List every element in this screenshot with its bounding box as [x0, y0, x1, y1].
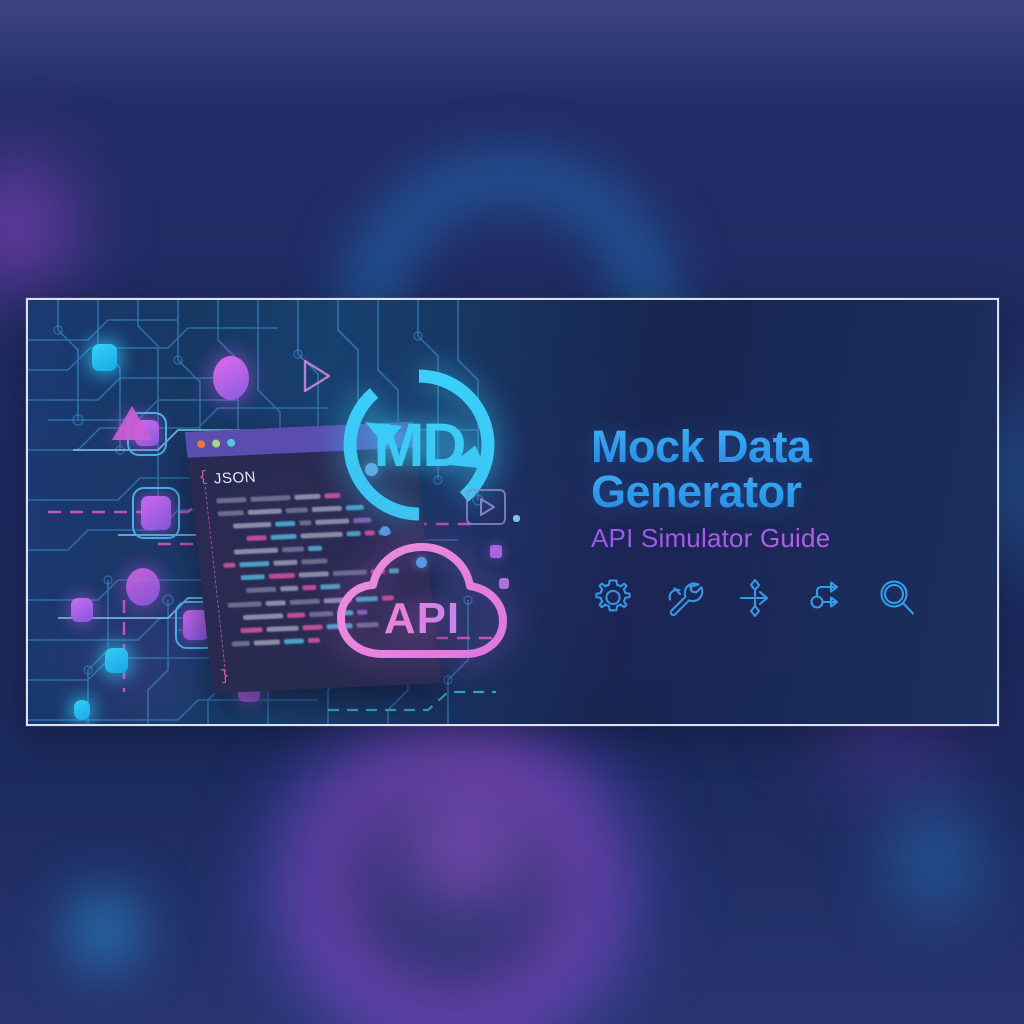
wrench-icon[interactable]	[662, 576, 706, 620]
circuit-chip-cyan-bottom	[105, 648, 128, 673]
arrow-triangle-icon	[295, 356, 337, 396]
decor-dot-blue-b	[365, 463, 378, 476]
play-badge-icon[interactable]	[464, 487, 508, 527]
page-subtitle: API Simulator Guide	[591, 523, 971, 554]
circuit-chip-cyan-corner	[74, 700, 90, 720]
decor-dot-blue-a	[416, 557, 427, 568]
banner-frame: { JSON	[26, 298, 999, 726]
gear-icon[interactable]	[591, 576, 635, 620]
close-dot[interactable]	[197, 440, 206, 448]
circuit-chip-cyan-top	[92, 344, 117, 371]
code-brace-open: {	[198, 469, 209, 486]
decor-square-violet-b	[499, 578, 509, 589]
background-glow-bottom-purple	[240, 700, 670, 1024]
poster-canvas: { JSON	[0, 0, 1024, 1024]
page-title-line-1: Mock Data	[591, 425, 971, 470]
minimize-dot[interactable]	[212, 439, 221, 447]
page-title-line-2: Generator	[591, 470, 971, 515]
code-brace-close: }	[219, 668, 230, 685]
banner-content: { JSON	[28, 300, 997, 724]
branch-node-icon[interactable]	[804, 576, 848, 620]
circuit-chip-violet-left	[71, 598, 93, 622]
background-glow-cyan-right	[880, 760, 990, 960]
circuit-triangle-accent	[112, 406, 152, 440]
decor-dot-blue-c	[380, 526, 390, 536]
magnifier-icon[interactable]	[875, 576, 919, 620]
circuit-chip-ring-mid	[132, 487, 180, 539]
decor-square-violet-a	[490, 545, 502, 558]
api-cloud-label: API	[333, 594, 511, 644]
decor-square-cyan	[513, 515, 520, 522]
circuit-node-mid	[126, 568, 160, 606]
background-glow-cyan-left	[60, 860, 150, 1000]
background-glow-bottom-core	[350, 740, 580, 950]
banner-text-block: Mock Data Generator API Simulator Guide	[591, 425, 971, 620]
maximize-dot[interactable]	[227, 439, 236, 447]
data-flow-icon[interactable]	[733, 576, 777, 620]
feature-icon-row	[591, 576, 971, 620]
circuit-node-top	[213, 356, 249, 400]
